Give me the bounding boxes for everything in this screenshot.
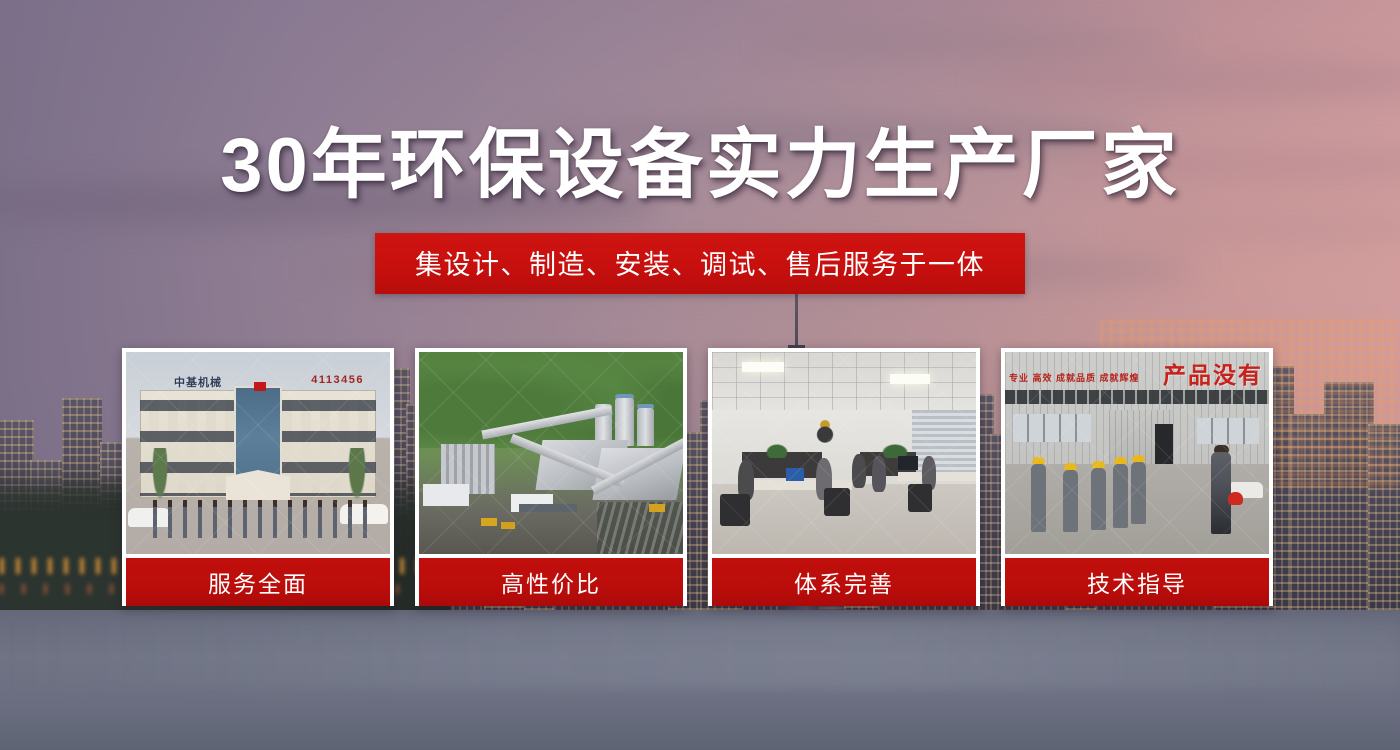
- office-ceiling: [712, 352, 976, 412]
- hardhat-icon: [1032, 457, 1045, 464]
- feature-card[interactable]: 中基机械 4113456 服务全面: [122, 348, 394, 606]
- flag-icon: [254, 382, 266, 391]
- laptop: [786, 468, 804, 481]
- feature-card-label: 高性价比: [419, 558, 683, 606]
- office-desk: [898, 472, 976, 481]
- worker-with-hardhat: [1131, 462, 1146, 524]
- feature-card-label: 体系完善: [712, 558, 976, 606]
- promo-banner: 30年环保设备实力生产厂家 集设计、制造、安装、调试、售后服务于一体 中基机械 …: [0, 0, 1400, 750]
- ceiling-light: [890, 374, 930, 384]
- red-hardhat-icon: [1228, 492, 1243, 505]
- hardhat-icon: [1114, 457, 1127, 464]
- feature-card-row: 中基机械 4113456 服务全面: [122, 348, 1278, 606]
- staff-lineup: [148, 502, 370, 538]
- aerial-production-plant-photo: [419, 352, 683, 554]
- company-sign-text: 中基机械: [174, 374, 222, 390]
- office-chair: [908, 484, 932, 512]
- excavator: [501, 522, 515, 529]
- staff-heads: [148, 500, 370, 507]
- worker-with-hardhat: [1091, 468, 1106, 530]
- hardhat-icon: [1132, 455, 1145, 462]
- factory-wall-subslogan: 专业 高效 成就品质 成就辉煌: [1009, 372, 1140, 384]
- office-chair: [824, 488, 850, 516]
- banner-content: 30年环保设备实力生产厂家 集设计、制造、安装、调试、售后服务于一体 中基机械 …: [0, 0, 1400, 750]
- excavator: [481, 518, 497, 526]
- wall-decal: [808, 416, 842, 446]
- feature-card[interactable]: 高性价比: [415, 348, 687, 606]
- feature-card[interactable]: 产品没有 专业 高效 成就品质 成就辉煌: [1001, 348, 1273, 606]
- clerestory-windows: [1005, 390, 1269, 404]
- hardhat-icon: [1064, 463, 1077, 470]
- site-building: [423, 484, 469, 506]
- excavator: [649, 504, 665, 512]
- tree: [152, 448, 168, 500]
- storage-silo: [637, 408, 654, 446]
- factory-window: [1197, 418, 1259, 444]
- feature-card-label: 技术指导: [1005, 558, 1269, 606]
- worker-with-hardhat: [1113, 464, 1128, 528]
- seated-employee: [872, 456, 886, 492]
- feature-card-label: 服务全面: [126, 558, 390, 606]
- workshop-technical-training-photo: 产品没有 专业 高效 成就品质 成就辉煌: [1005, 352, 1269, 554]
- page-title: 30年环保设备实力生产厂家: [0, 128, 1400, 204]
- hardhat-icon: [1092, 461, 1105, 468]
- feature-card[interactable]: 体系完善: [708, 348, 980, 606]
- subtitle-badge: 集设计、制造、安装、调试、售后服务于一体: [375, 233, 1025, 294]
- tree: [348, 448, 366, 500]
- office-staff-workspace-photo: [712, 352, 976, 554]
- storage-silo: [615, 398, 634, 446]
- factory-window: [1013, 414, 1091, 442]
- worker-with-hardhat: [1063, 470, 1078, 532]
- worker-with-hardhat: [1031, 464, 1046, 532]
- potted-plant: [766, 444, 788, 458]
- seated-employee: [852, 454, 866, 488]
- company-headquarters-photo: 中基机械 4113456: [126, 352, 390, 554]
- subtitle-container: 集设计、制造、安装、调试、售后服务于一体: [0, 233, 1400, 294]
- ceiling-light: [742, 362, 784, 372]
- computer-monitor: [898, 456, 918, 470]
- company-phone-text: 4113456: [311, 374, 364, 386]
- instructor: [1211, 452, 1231, 534]
- factory-wall-slogan: 产品没有: [1163, 356, 1263, 390]
- factory-door: [1155, 424, 1173, 466]
- rail-siding: [597, 502, 683, 554]
- office-chair: [720, 494, 750, 526]
